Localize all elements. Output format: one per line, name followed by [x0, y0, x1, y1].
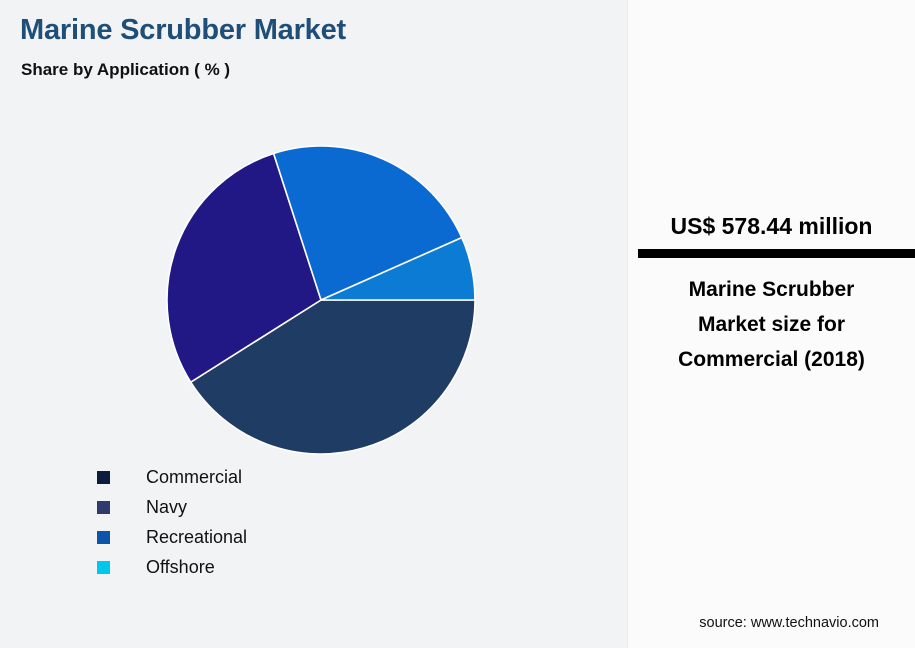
pie-slice-group: [167, 146, 475, 454]
chart-page: Marine Scrubber Market Share by Applicat…: [0, 0, 915, 648]
market-value-caption: Marine Scrubber Market size for Commerci…: [652, 272, 891, 377]
legend-item-offshore[interactable]: Offshore: [97, 552, 517, 582]
legend: Commercial Navy Recreational Offshore: [97, 462, 517, 582]
source-note: source: www.technavio.com: [699, 615, 879, 631]
legend-swatch-navy: [97, 501, 110, 514]
legend-label-commercial: Commercial: [146, 467, 242, 488]
legend-item-recreational[interactable]: Recreational: [97, 522, 517, 552]
page-title: Marine Scrubber Market: [20, 14, 346, 47]
info-panel: US$ 578.44 million Marine Scrubber Marke…: [627, 0, 915, 648]
pie-chart-svg: [164, 143, 478, 457]
legend-item-navy[interactable]: Navy: [97, 492, 517, 522]
market-value-callout: US$ 578.44 million: [628, 213, 915, 240]
legend-swatch-offshore: [97, 561, 110, 574]
legend-label-recreational: Recreational: [146, 527, 247, 548]
chart-panel: Marine Scrubber Market Share by Applicat…: [0, 0, 627, 648]
callout-divider: [638, 249, 915, 258]
legend-label-offshore: Offshore: [146, 557, 215, 578]
legend-swatch-recreational: [97, 531, 110, 544]
legend-swatch-commercial: [97, 471, 110, 484]
chart-subtitle: Share by Application ( % ): [21, 60, 230, 80]
legend-item-commercial[interactable]: Commercial: [97, 462, 517, 492]
legend-label-navy: Navy: [146, 497, 187, 518]
pie-chart: [164, 143, 478, 457]
